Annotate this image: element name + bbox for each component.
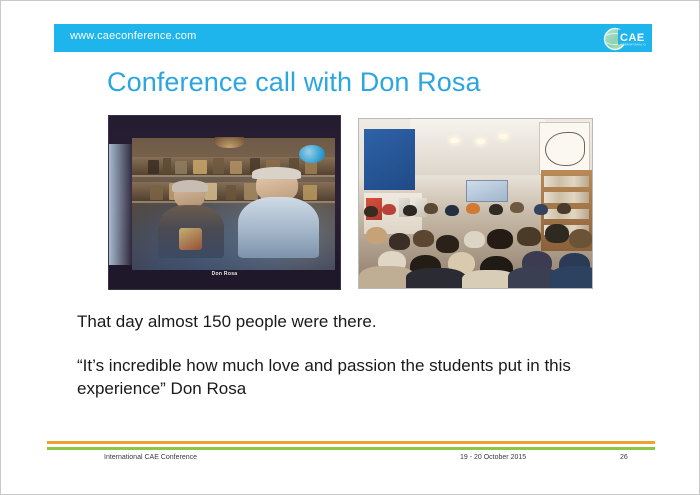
presentation-slide: www.caeconference.com CAE INTERNATIONAL … (0, 0, 700, 495)
wall-artwork (539, 122, 590, 175)
wall-artwork-sketch (545, 132, 585, 165)
audience-head (510, 202, 524, 214)
person-left (156, 182, 225, 256)
shelf-item (148, 160, 158, 174)
footer-conference-dates: 19 - 20 October 2015 (460, 454, 526, 461)
audience-head (364, 206, 378, 218)
ceiling-light (476, 139, 485, 144)
footer-rule-green (47, 447, 655, 450)
audience-head (413, 230, 434, 247)
room-scene (359, 119, 592, 288)
ceiling-light (450, 138, 459, 143)
window-light-glow (109, 144, 134, 265)
footer-page-number: 26 (620, 454, 628, 461)
audience-crowd (359, 190, 592, 288)
room-ceiling (410, 119, 545, 175)
audience-head (545, 224, 568, 243)
person-right (238, 169, 319, 256)
shelf-item (226, 185, 236, 201)
skype-conference-call-photo: Don Rosa (108, 115, 341, 290)
shelf-item (213, 158, 223, 174)
audience-head (464, 231, 485, 248)
body-quote: “It’s incredible how much love and passi… (77, 354, 657, 401)
shelf-item (193, 160, 207, 174)
person-right-torso (238, 197, 319, 258)
audience-head (534, 204, 548, 216)
header-website-url: www.caeconference.com (70, 30, 196, 42)
audience-head (424, 203, 438, 215)
audience-head (517, 227, 540, 246)
audience-head (382, 204, 396, 216)
person-left-hair (172, 180, 208, 193)
audience-head (445, 205, 459, 217)
footer-rule-orange (47, 441, 655, 444)
audience-room-photo (358, 118, 593, 289)
audience-head (403, 205, 417, 217)
skype-video-feed (132, 138, 335, 270)
audience-head (389, 233, 410, 250)
audience-head (466, 203, 480, 215)
footer-conference-name: International CAE Conference (104, 454, 197, 461)
audience-torso (406, 268, 467, 289)
blue-wall-panel (364, 129, 415, 190)
audience-head (487, 229, 513, 249)
body-statement: That day almost 150 people were there. (77, 312, 377, 332)
skype-window-frame: Don Rosa (109, 116, 340, 289)
audience-head (489, 204, 503, 216)
audience-torso (550, 266, 593, 289)
bookshelf-row (544, 176, 589, 187)
audience-head (569, 229, 592, 248)
shelf-item (163, 158, 171, 174)
svg-text:INTERNATIONAL CONFERENCE: INTERNATIONAL CONFERENCE (620, 43, 646, 47)
person-right-hair (252, 167, 301, 179)
header-bar: www.caeconference.com CAE INTERNATIONAL … (54, 24, 652, 52)
person-left-tshirt-print (179, 228, 202, 250)
svg-text:CAE: CAE (620, 32, 645, 44)
cae-logo: CAE INTERNATIONAL CONFERENCE (600, 25, 646, 51)
skype-caption-bar: Don Rosa (109, 270, 340, 289)
skype-caller-name: Don Rosa (109, 271, 340, 277)
ceiling-lamp (215, 137, 243, 148)
audience-head (436, 235, 459, 253)
slide-title: Conference call with Don Rosa (107, 67, 481, 98)
shelf-item (175, 161, 187, 174)
audience-head (366, 227, 387, 244)
cae-logo-icon: CAE INTERNATIONAL CONFERENCE (600, 25, 646, 51)
audience-head (557, 203, 571, 215)
